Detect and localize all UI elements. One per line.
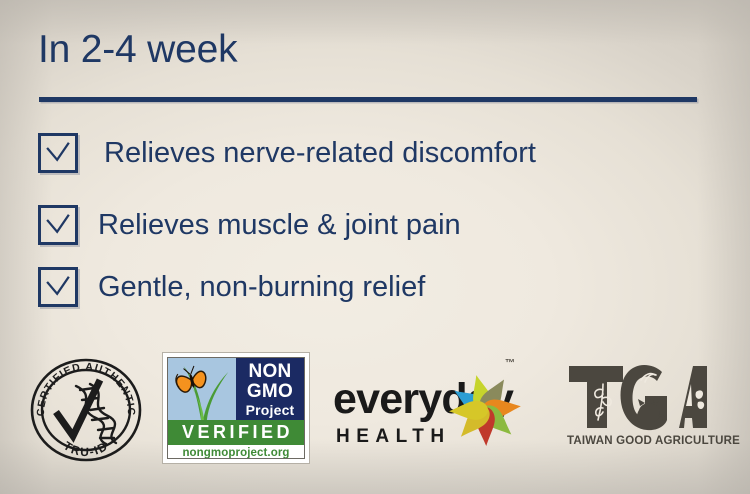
non-gmo-verified-bar: VERIFIED: [168, 420, 304, 445]
title-divider: [39, 97, 697, 102]
list-item-label: Relieves nerve-related discomfort: [104, 136, 536, 170]
tga-monogram-icon: [567, 362, 707, 432]
non-gmo-text-block: NON GMO Project: [236, 358, 304, 420]
list-item: Relieves nerve-related discomfort: [38, 124, 698, 182]
taiwan-good-agriculture-logo: TAIWAN GOOD AGRICULTURE: [567, 362, 715, 460]
certification-logo-strip: CERTIFIED AUTHENTIC TRU-ID: [0, 352, 750, 472]
slide-canvas: In 2-4 week Relieves nerve-related disco…: [0, 0, 750, 494]
trademark-symbol: ™: [505, 358, 515, 369]
everyday-health-logo: everyday HEALTH: [333, 354, 545, 462]
non-gmo-line-2: GMO: [247, 382, 293, 401]
list-item: Gentle, non-burning relief: [38, 258, 698, 316]
checkbox-checked-icon: [38, 133, 78, 173]
benefits-checklist: Relieves nerve-related discomfort Reliev…: [38, 124, 698, 316]
certified-authentic-tru-id-seal: CERTIFIED AUTHENTIC TRU-ID: [28, 358, 144, 462]
checkbox-checked-icon: [38, 267, 78, 307]
list-item-label: Relieves muscle & joint pain: [98, 208, 461, 242]
non-gmo-project-verified-seal: NON GMO Project VERIFIED nongmoproject.o…: [162, 352, 310, 464]
list-item: Relieves muscle & joint pain: [38, 196, 698, 254]
petal-burst-icon: [429, 354, 545, 462]
checkbox-checked-icon: [38, 205, 78, 245]
page-title: In 2-4 week: [38, 26, 237, 74]
non-gmo-line-3: Project: [246, 403, 295, 417]
non-gmo-url: nongmoproject.org: [168, 445, 304, 459]
non-gmo-line-1: NON: [248, 362, 291, 381]
list-item-label: Gentle, non-burning relief: [98, 270, 425, 304]
butterfly-grass-icon: [168, 358, 236, 420]
tga-subtitle: TAIWAN GOOD AGRICULTURE: [567, 435, 715, 447]
